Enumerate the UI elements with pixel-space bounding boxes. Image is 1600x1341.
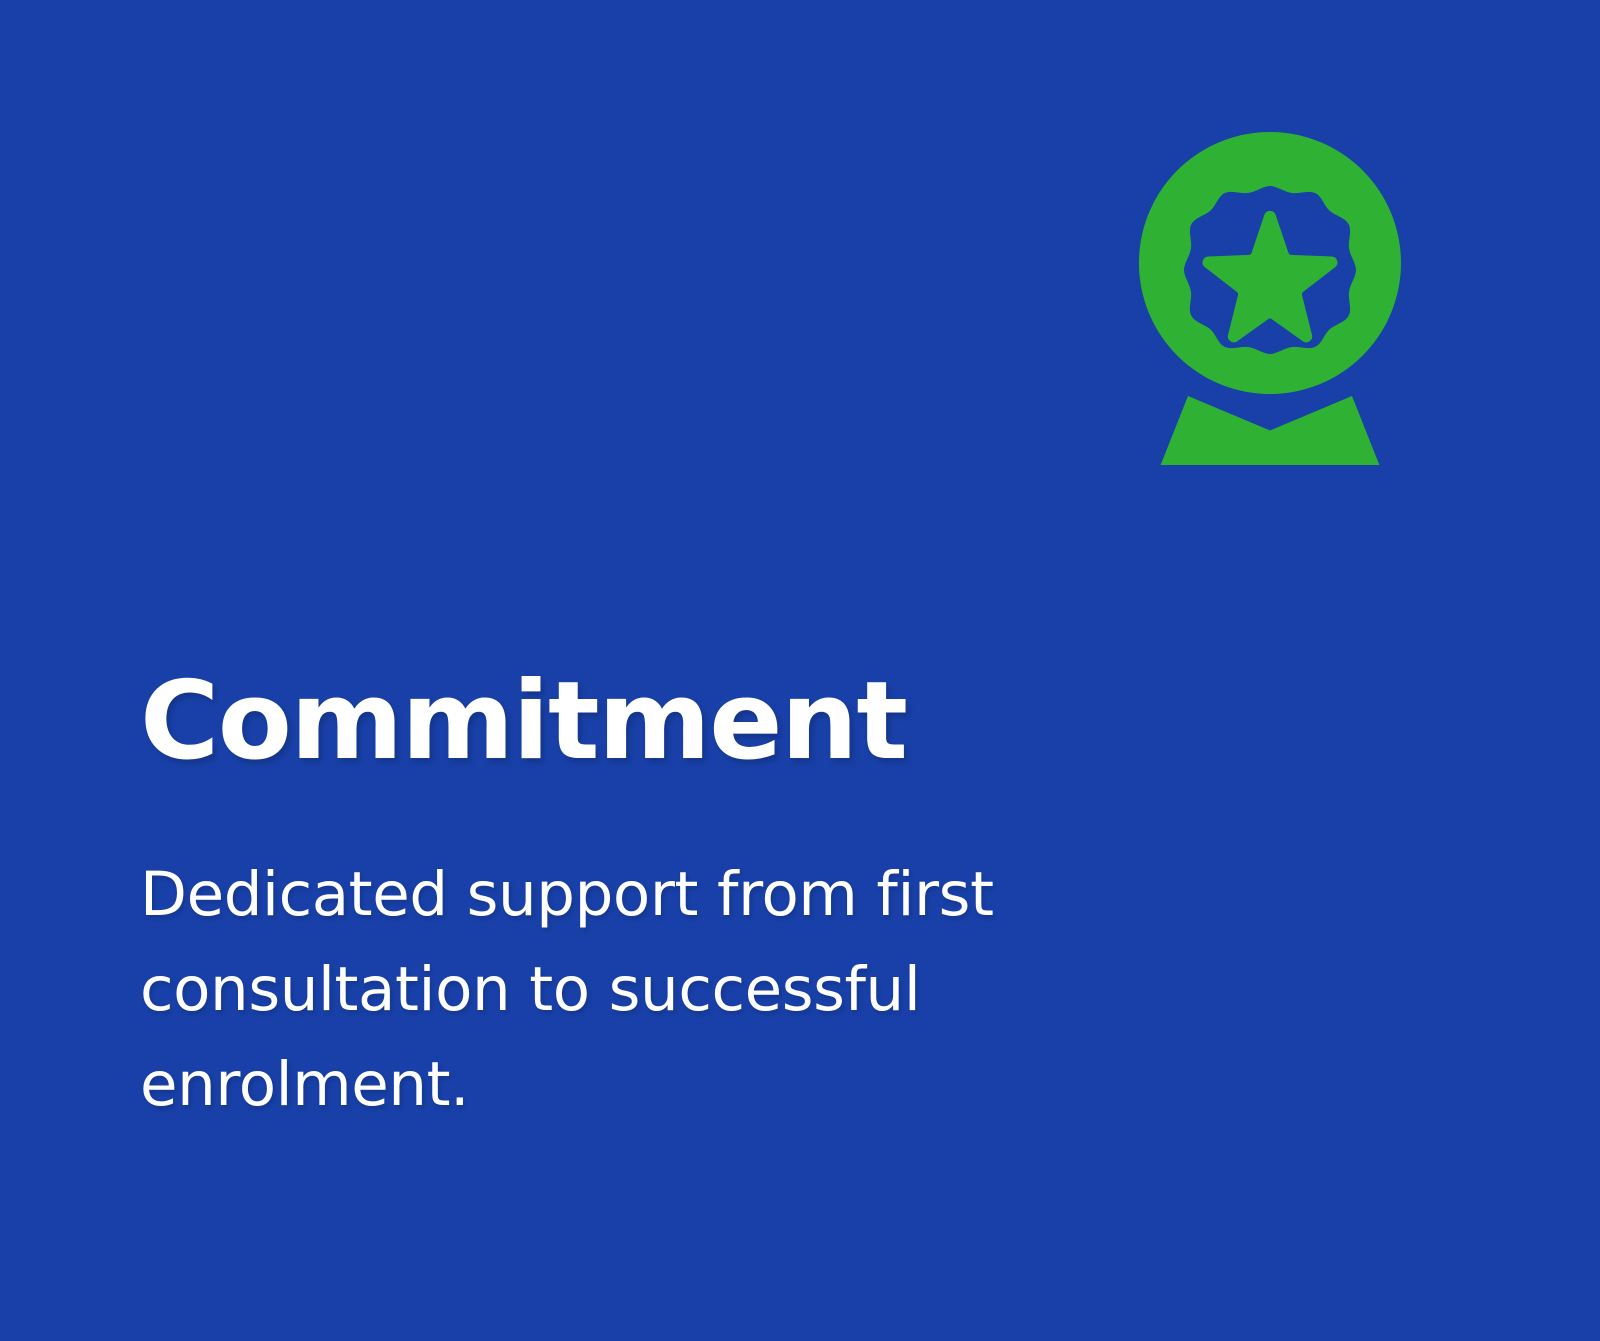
commitment-value-card: Commitment Dedicated support from first … (0, 0, 1600, 1341)
award-ribbon-badge-icon (1120, 120, 1420, 465)
page-title: Commitment (140, 664, 1220, 781)
card-text-block: Commitment Dedicated support from first … (140, 664, 1220, 1132)
card-description: Dedicated support from first consultatio… (140, 847, 1170, 1132)
